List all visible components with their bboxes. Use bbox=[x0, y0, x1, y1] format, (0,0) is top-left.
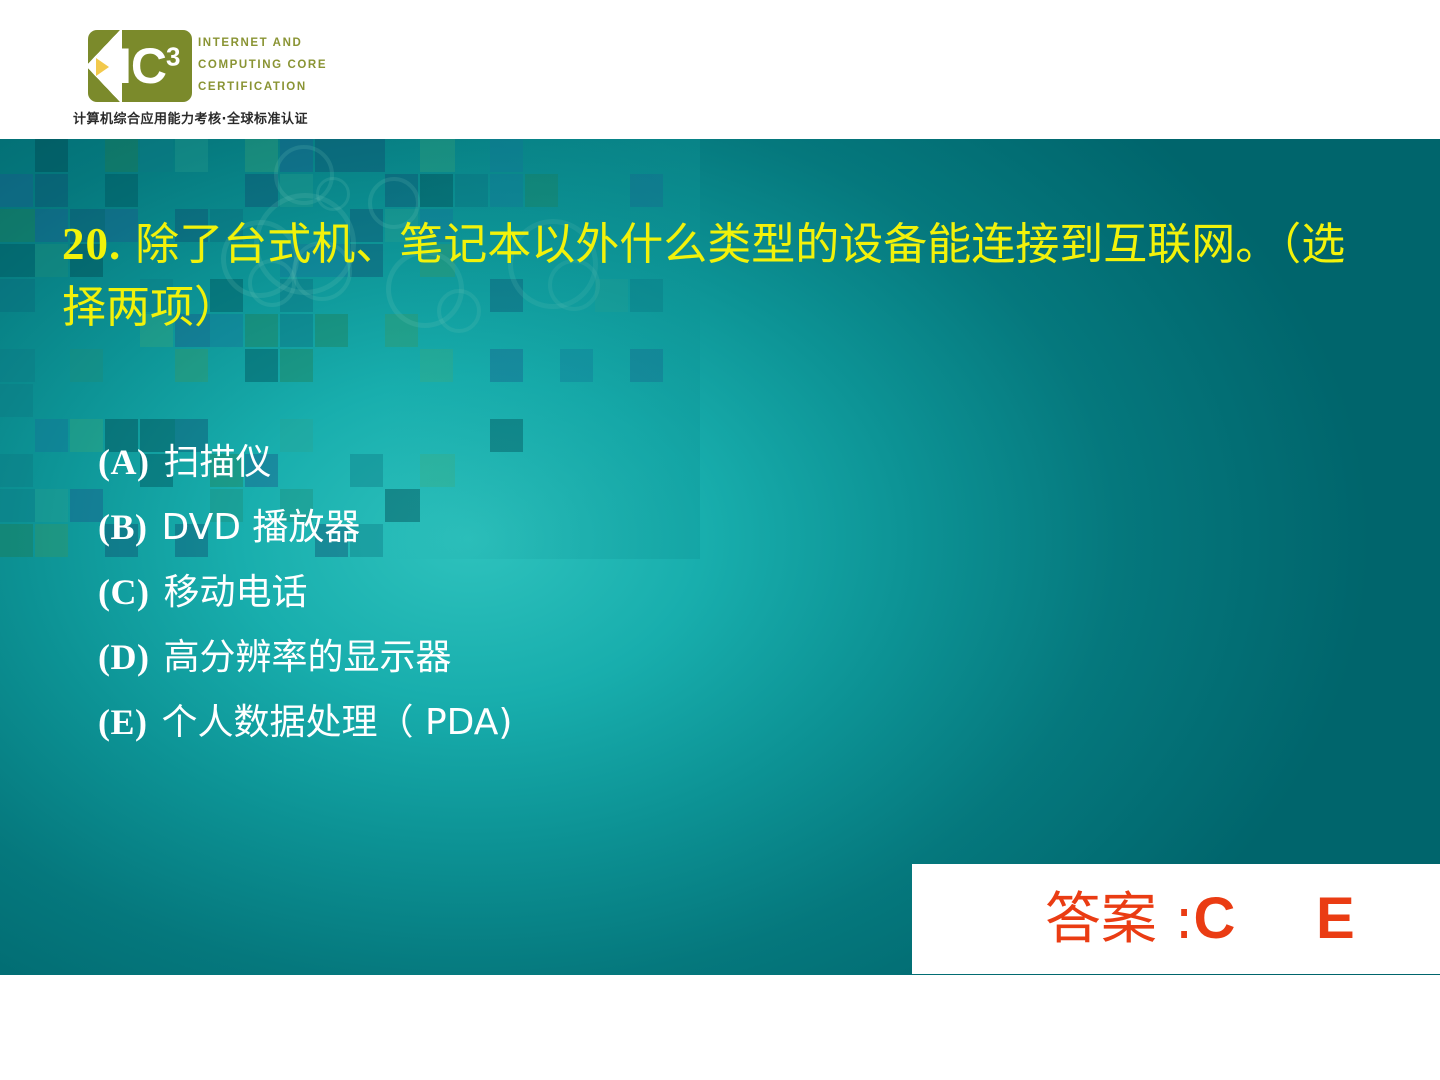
option-b-text: DVD 播放器 bbox=[148, 507, 361, 548]
ic3-logo-wordmark: IC3 bbox=[118, 30, 192, 102]
mosaic-tile bbox=[490, 174, 523, 207]
mosaic-tile bbox=[0, 349, 35, 382]
mosaic-tile bbox=[35, 419, 68, 452]
answer-letters: C E bbox=[1193, 886, 1354, 951]
option-d[interactable]: (D)高分辨率的显示器 bbox=[98, 625, 998, 690]
ic3-logo-mark: IC3 bbox=[88, 30, 192, 102]
option-c-text: 移动电话 bbox=[149, 572, 307, 613]
mosaic-ring-decoration bbox=[316, 177, 350, 211]
option-d-text: 高分辨率的显示器 bbox=[149, 637, 451, 678]
logo-line-2: COMPUTING CORE bbox=[198, 54, 378, 76]
mosaic-tile bbox=[35, 524, 68, 557]
mosaic-tile bbox=[0, 489, 35, 522]
mosaic-tile bbox=[455, 174, 488, 207]
option-d-letter: (D) bbox=[98, 637, 149, 677]
mosaic-tile bbox=[350, 139, 385, 172]
mosaic-tile bbox=[420, 139, 455, 172]
mosaic-tile bbox=[0, 279, 35, 312]
mosaic-tile bbox=[35, 174, 68, 207]
ic3-logo: IC3 ™ INTERNET AND COMPUTING CORE CERTIF… bbox=[68, 24, 368, 134]
question-number: 20. bbox=[62, 219, 121, 269]
answer-box: 答案 :C E bbox=[912, 864, 1440, 974]
mosaic-tile bbox=[35, 139, 68, 172]
header-band: IC3 ™ INTERNET AND COMPUTING CORE CERTIF… bbox=[0, 0, 1440, 139]
mosaic-tile bbox=[630, 349, 663, 382]
mosaic-tile bbox=[245, 139, 278, 172]
mosaic-tile bbox=[420, 174, 453, 207]
mosaic-tile bbox=[0, 244, 35, 277]
option-a[interactable]: (A)扫描仪 bbox=[98, 430, 998, 495]
option-e-text: 个人数据处理（ PDA) bbox=[148, 702, 513, 743]
option-e-letter: (E) bbox=[98, 702, 148, 742]
mosaic-tile bbox=[0, 524, 33, 557]
mosaic-tile bbox=[525, 174, 558, 207]
mosaic-tile bbox=[630, 174, 663, 207]
mosaic-tile bbox=[280, 349, 313, 382]
mosaic-tile bbox=[245, 174, 278, 207]
mosaic-tile bbox=[140, 139, 173, 172]
option-b-letter: (B) bbox=[98, 507, 148, 547]
trademark-icon: ™ bbox=[160, 40, 169, 50]
mosaic-tile bbox=[0, 384, 33, 417]
slide: IC3 ™ INTERNET AND COMPUTING CORE CERTIF… bbox=[0, 0, 1440, 1080]
mosaic-tile bbox=[245, 349, 278, 382]
footer-band bbox=[0, 975, 1440, 1080]
mosaic-tile bbox=[70, 349, 103, 382]
logo-chinese-subtitle: 计算机综合应用能力考核·全球标准认证 bbox=[73, 108, 308, 127]
mosaic-tile bbox=[105, 174, 138, 207]
mosaic-tile bbox=[490, 139, 523, 172]
option-a-letter: (A) bbox=[98, 442, 149, 482]
mosaic-tile bbox=[0, 454, 33, 487]
option-e[interactable]: (E)个人数据处理（ PDA) bbox=[98, 690, 998, 755]
option-b[interactable]: (B)DVD 播放器 bbox=[98, 495, 998, 560]
question-title: 20. 除了台式机、笔记本以外什么类型的设备能连接到互联网。（选择两项） bbox=[62, 213, 1372, 339]
option-c-letter: (C) bbox=[98, 572, 149, 612]
mosaic-tile bbox=[0, 209, 35, 242]
ic3-logo-letters: IC bbox=[118, 38, 166, 94]
logo-line-3: CERTIFICATION bbox=[198, 76, 378, 98]
mosaic-tile bbox=[175, 139, 208, 172]
mosaic-tile bbox=[490, 349, 523, 382]
options-list: (A)扫描仪 (B)DVD 播放器 (C)移动电话 (D)高分辨率的显示器 (E… bbox=[98, 430, 998, 755]
mosaic-tile bbox=[0, 174, 33, 207]
mosaic-tile bbox=[420, 349, 453, 382]
ic3-logo-tagline: INTERNET AND COMPUTING CORE CERTIFICATIO… bbox=[198, 32, 378, 98]
question-text: 除了台式机、笔记本以外什么类型的设备能连接到互联网。（选择两项） bbox=[62, 219, 1345, 333]
option-c[interactable]: (C)移动电话 bbox=[98, 560, 998, 625]
mosaic-tile bbox=[105, 139, 138, 172]
answer-label: 答案 : bbox=[1045, 887, 1194, 952]
logo-arrow-icon bbox=[96, 58, 109, 76]
mosaic-tile bbox=[35, 489, 68, 522]
mosaic-tile bbox=[175, 349, 208, 382]
logo-line-1: INTERNET AND bbox=[198, 32, 378, 54]
option-a-text: 扫描仪 bbox=[149, 442, 271, 483]
mosaic-tile bbox=[560, 349, 593, 382]
